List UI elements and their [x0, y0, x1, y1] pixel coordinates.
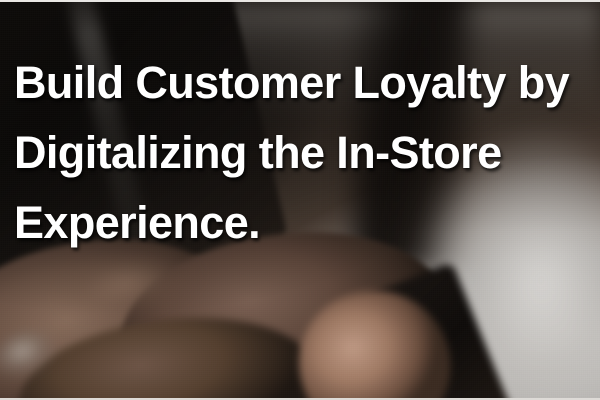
banner-headline: Build Customer Loyalty by Digitalizing t…	[14, 48, 594, 258]
hero-banner: Build Customer Loyalty by Digitalizing t…	[0, 0, 600, 400]
